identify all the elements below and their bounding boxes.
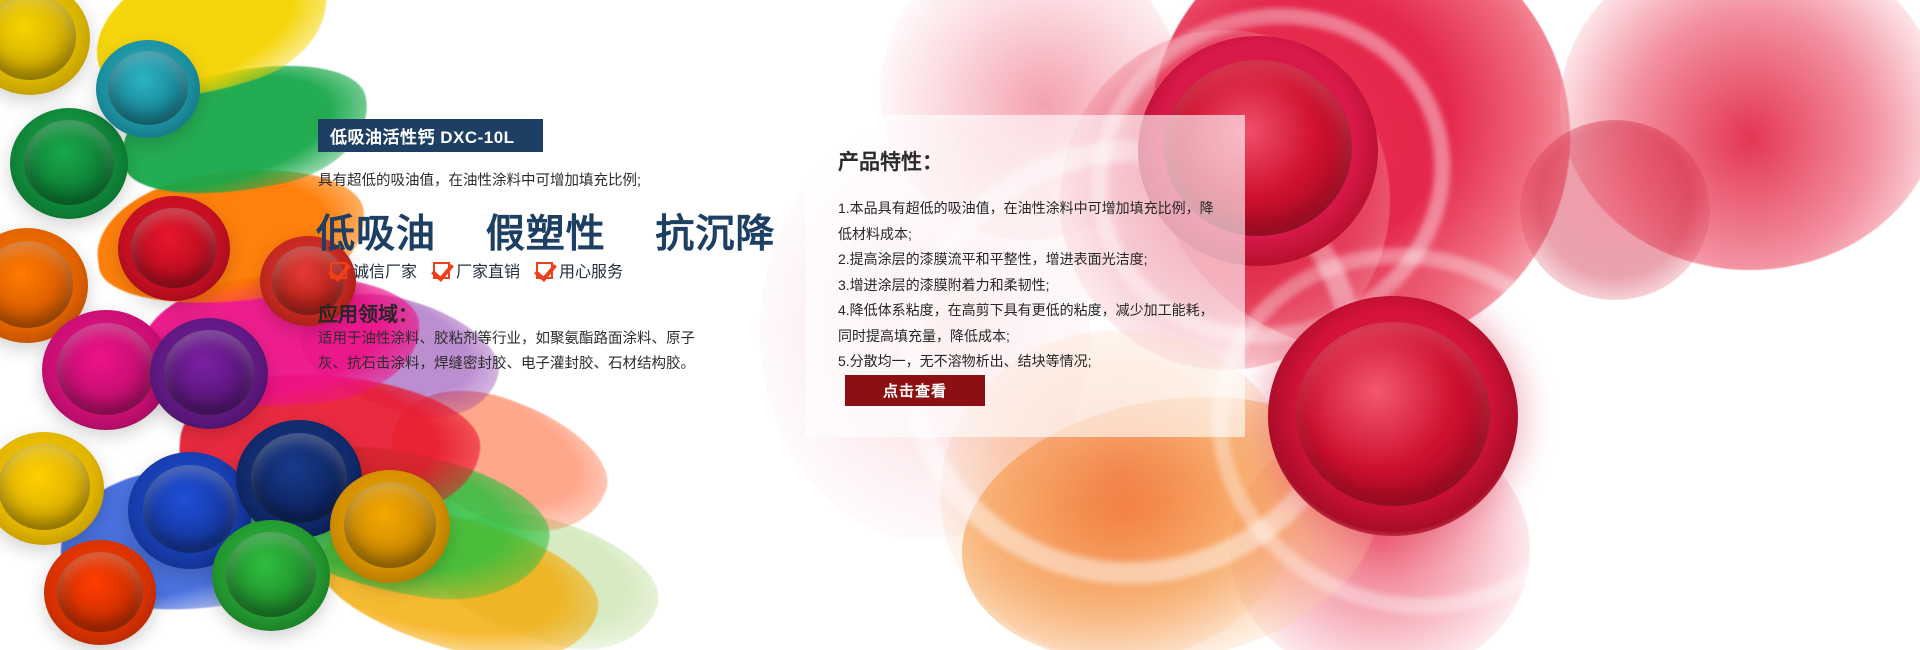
view-details-button[interactable]: 点击查看 xyxy=(845,375,985,406)
headline-part-1: 低吸油 xyxy=(316,213,436,256)
product-subtitle: 具有超低的吸油值，在油性涂料中可增加填充比例; xyxy=(318,169,641,190)
checkbox-checked-icon xyxy=(536,262,553,279)
trust-badge-item: 厂家直销 xyxy=(433,258,520,282)
features-list: 1.本品具有超低的吸油值，在油性涂料中可增加填充比例，降低材料成本;2.提高涂层… xyxy=(838,196,1216,375)
features-list-item: 2.提高涂层的漆膜流平和平整性，增进表面光洁度; xyxy=(838,247,1216,273)
product-tag: 低吸油活性钙 DXC-10L xyxy=(318,119,543,152)
application-body: 适用于油性涂料、胶粘剂等行业，如聚氨酯路面涂料、原子灰、抗石击涂料，焊缝密封胶、… xyxy=(318,327,718,377)
features-list-item: 3.增进涂层的漆膜附着力和柔韧性; xyxy=(838,273,1216,299)
headline-part-2: 假塑性 xyxy=(486,213,606,256)
product-tag-label: 低吸油活性钙 DXC-10L xyxy=(330,123,515,148)
trust-badge-item: 用心服务 xyxy=(536,258,623,282)
view-details-label: 点击查看 xyxy=(883,380,947,401)
features-list-item: 1.本品具有超低的吸油值，在油性涂料中可增加填充比例，降低材料成本; xyxy=(838,196,1216,247)
features-panel-title: 产品特性： xyxy=(838,146,943,176)
features-list-item: 4.降低体系粘度，在高剪下具有更低的粘度，减少加工能耗，同时提高填充量，降低成本… xyxy=(838,298,1216,349)
trust-badge-list: 诚信厂家 厂家直销 用心服务 xyxy=(330,258,623,282)
trust-badge-label: 厂家直销 xyxy=(456,258,520,282)
trust-badge-item: 诚信厂家 xyxy=(330,258,417,282)
banner-content: 低吸油活性钙 DXC-10L 具有超低的吸油值，在油性涂料中可增加填充比例; 低… xyxy=(0,0,1920,650)
product-headline: 低吸油 假塑性 抗沉降 xyxy=(316,203,775,259)
trust-badge-label: 诚信厂家 xyxy=(353,258,417,282)
checkbox-checked-icon xyxy=(330,262,347,279)
features-list-item: 5.分散均一，无不溶物析出、结块等情况; xyxy=(838,349,1216,375)
application-heading: 应用领域： xyxy=(318,298,418,327)
trust-badge-label: 用心服务 xyxy=(559,258,623,282)
product-banner: 低吸油活性钙 DXC-10L 具有超低的吸油值，在油性涂料中可增加填充比例; 低… xyxy=(0,0,1920,650)
headline-part-3: 抗沉降 xyxy=(655,213,775,256)
checkbox-checked-icon xyxy=(433,262,450,279)
